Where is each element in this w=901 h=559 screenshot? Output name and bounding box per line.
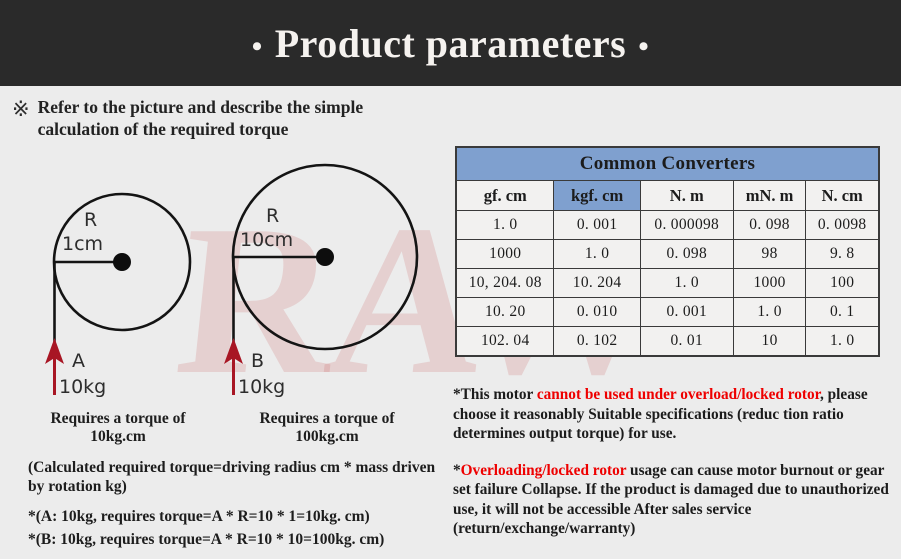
- formula-intro: (Calculated required torque=driving radi…: [28, 458, 446, 496]
- circle-b-caption-line1: Requires a torque of: [222, 410, 432, 428]
- cell-r1c2: 0. 098: [640, 240, 733, 269]
- cell-r2c3: 1000: [733, 269, 806, 298]
- table-row: 10, 204. 08 10. 204 1. 0 1000 100: [456, 269, 879, 298]
- cell-r2c2: 1. 0: [640, 269, 733, 298]
- circle-b-caption-line2: 100kg.cm: [222, 428, 432, 446]
- warning-note-2: *Overloading/locked rotor usage can caus…: [453, 461, 893, 539]
- circle-b-mass-label: 10kg: [238, 376, 285, 398]
- page-header-banner: •Product parameters•: [0, 0, 901, 86]
- note1-part-a: *This motor: [453, 386, 537, 403]
- circle-a-caption-line2: 10kg.cm: [18, 428, 218, 446]
- cell-r1c4: 9. 8: [806, 240, 879, 269]
- reference-mark-icon: ※: [12, 98, 30, 120]
- page-title: •Product parameters•: [240, 20, 662, 67]
- cell-r2c4: 100: [806, 269, 879, 298]
- cell-r2c0: 10, 204. 08: [456, 269, 554, 298]
- torque-diagram: R 1cm A 10kg R 10cm B 10kg: [0, 150, 450, 410]
- cell-r3c4: 0. 1: [806, 298, 879, 327]
- circle-a-radius-label: R: [84, 209, 97, 231]
- table-col-nm: N. m: [640, 181, 733, 211]
- table-title: Common Converters: [456, 147, 879, 181]
- cell-r2c1: 10. 204: [554, 269, 640, 298]
- bullet-right-icon: •: [626, 30, 661, 64]
- table-col-kgfcm: kgf. cm: [554, 181, 640, 211]
- formula-line-a: *(A: 10kg, requires torque=A * R=10 * 1=…: [28, 506, 446, 527]
- table-col-ncm: N. cm: [806, 181, 879, 211]
- circle-a-center-dot: [113, 253, 131, 271]
- page-root: RAW •Product parameters• ※ Refer to the …: [0, 0, 901, 559]
- lead-paragraph-text: Refer to the picture and describe the si…: [38, 96, 442, 140]
- page-title-text: Product parameters: [275, 21, 627, 66]
- note2-part-a: *: [453, 462, 461, 479]
- cell-r1c0: 1000: [456, 240, 554, 269]
- cell-r4c3: 10: [733, 327, 806, 357]
- table-col-gfcm: gf. cm: [456, 181, 554, 211]
- cell-r0c0: 1. 0: [456, 211, 554, 240]
- table-row: 1. 0 0. 001 0. 000098 0. 098 0. 0098: [456, 211, 879, 240]
- table-row: 1000 1. 0 0. 098 98 9. 8: [456, 240, 879, 269]
- note2-highlight: Overloading/locked rotor: [461, 462, 627, 479]
- cell-r3c2: 0. 001: [640, 298, 733, 327]
- cell-r4c0: 102. 04: [456, 327, 554, 357]
- circle-b-radius-value: 10cm: [240, 229, 293, 251]
- cell-r4c2: 0. 01: [640, 327, 733, 357]
- table-row: 102. 04 0. 102 0. 01 10 1. 0: [456, 327, 879, 357]
- table-col-mnm: mN. m: [733, 181, 806, 211]
- note1-highlight: cannot be used under overload/locked rot…: [537, 386, 820, 403]
- cell-r4c1: 0. 102: [554, 327, 640, 357]
- circle-a-caption: Requires a torque of 10kg.cm: [18, 410, 218, 446]
- lead-paragraph: ※ Refer to the picture and describe the …: [12, 96, 442, 140]
- table-header-row: gf. cm kgf. cm N. m mN. m N. cm: [456, 181, 879, 211]
- circle-b-radius-label: R: [266, 205, 279, 227]
- table-row: 10. 20 0. 010 0. 001 1. 0 0. 1: [456, 298, 879, 327]
- cell-r3c3: 1. 0: [733, 298, 806, 327]
- warning-note-1: *This motor cannot be used under overloa…: [453, 385, 893, 444]
- circle-b-point-label: B: [251, 350, 264, 372]
- cell-r1c1: 1. 0: [554, 240, 640, 269]
- cell-r0c4: 0. 0098: [806, 211, 879, 240]
- cell-r3c0: 10. 20: [456, 298, 554, 327]
- bullet-left-icon: •: [240, 30, 275, 64]
- formula-line-b: *(B: 10kg, requires torque=A * R=10 * 10…: [28, 529, 446, 550]
- circle-b-center-dot: [316, 248, 334, 266]
- circle-a-mass-label: 10kg: [59, 376, 106, 398]
- circle-a-caption-line1: Requires a torque of: [18, 410, 218, 428]
- converter-table-wrap: Common Converters gf. cm kgf. cm N. m mN…: [455, 146, 880, 357]
- converter-table: Common Converters gf. cm kgf. cm N. m mN…: [455, 146, 880, 357]
- cell-r3c1: 0. 010: [554, 298, 640, 327]
- cell-r0c1: 0. 001: [554, 211, 640, 240]
- circle-b-caption: Requires a torque of 100kg.cm: [222, 410, 432, 446]
- cell-r0c3: 0. 098: [733, 211, 806, 240]
- circle-a-radius-value: 1cm: [62, 233, 103, 255]
- cell-r1c3: 98: [733, 240, 806, 269]
- formula-block: (Calculated required torque=driving radi…: [28, 458, 446, 550]
- warning-notes: *This motor cannot be used under overloa…: [453, 385, 893, 539]
- circle-a-point-label: A: [72, 350, 85, 372]
- cell-r4c4: 1. 0: [806, 327, 879, 357]
- table-title-row: Common Converters: [456, 147, 879, 181]
- cell-r0c2: 0. 000098: [640, 211, 733, 240]
